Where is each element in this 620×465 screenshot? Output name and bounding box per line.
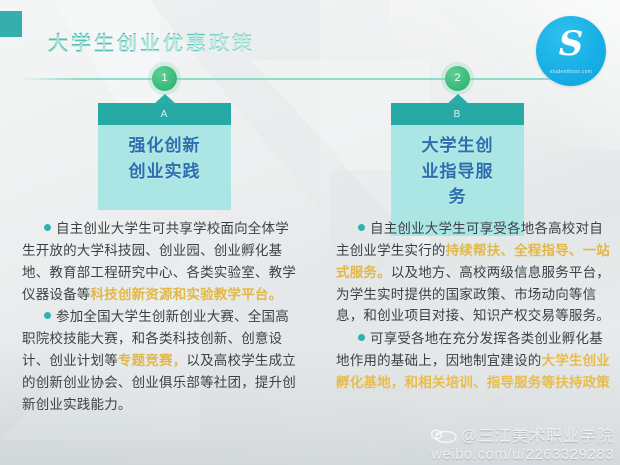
accent-strip	[0, 11, 22, 37]
card-a-header: A	[98, 103, 231, 125]
page-title: 大学生创业优惠政策	[48, 27, 255, 56]
bullet-paragraph: 自主创业大学生可共享学校面向全体学生开放的大学科技园、创业园、创业孵化基地、教育…	[22, 219, 297, 306]
card-b-line: 业指导服	[397, 160, 518, 186]
bullet-dot-icon	[358, 334, 365, 341]
logo-caption: studentboss.com	[536, 69, 606, 75]
card-a-tag: A	[161, 109, 169, 120]
card-a: A 强化创新 创业实践	[98, 103, 231, 210]
paragraph-highlight: 科技创新资源和实验教学平台。	[91, 287, 283, 303]
timeline-node-1: 1	[152, 66, 177, 91]
bullet-paragraph: 参加全国大学生创新创业大赛、全国高职院校技能大赛，和各类科技创新、创意设计、创业…	[22, 307, 297, 416]
bullet-dot-icon	[44, 312, 51, 319]
logo-s-icon: S	[536, 27, 606, 61]
bullet-paragraph: 可享受各地在充分发挥各类创业孵化基地作用的基础上，因地制宜建设的大学生创业孵化基…	[336, 329, 611, 395]
card-b-line: 大学生创	[397, 134, 518, 160]
card-a-line: 创业实践	[104, 160, 225, 186]
text-column-right: 自主创业大学生可享受各地各高校对自主创业学生实行的持续帮扶、全程指导、一站式服务…	[336, 219, 611, 396]
card-b-line: 务	[397, 185, 518, 211]
card-a-body: 强化创新 创业实践	[98, 125, 231, 210]
card-notch-icon	[447, 94, 469, 104]
slide-canvas: 大学生创业优惠政策 1 2 A 强化创新 创业实践 B 大学生创 业指导服 务 …	[0, 0, 620, 465]
card-b-tag: B	[454, 109, 462, 120]
brand-logo: S studentboss.com	[536, 16, 606, 86]
timeline-connector	[20, 78, 600, 80]
timeline-node-2: 2	[445, 66, 470, 91]
card-a-line: 强化创新	[104, 134, 225, 160]
text-column-left: 自主创业大学生可共享学校面向全体学生开放的大学科技园、创业园、创业孵化基地、教育…	[22, 219, 297, 418]
card-notch-icon	[154, 94, 176, 104]
card-b-header: B	[391, 103, 524, 125]
card-b: B 大学生创 业指导服 务	[391, 103, 524, 236]
bullet-dot-icon	[358, 224, 365, 231]
bullet-paragraph: 自主创业大学生可享受各地各高校对自主创业学生实行的持续帮扶、全程指导、一站式服务…	[336, 219, 611, 328]
bullet-dot-icon	[44, 224, 51, 231]
paragraph-highlight: 专题竞赛，	[118, 353, 187, 369]
